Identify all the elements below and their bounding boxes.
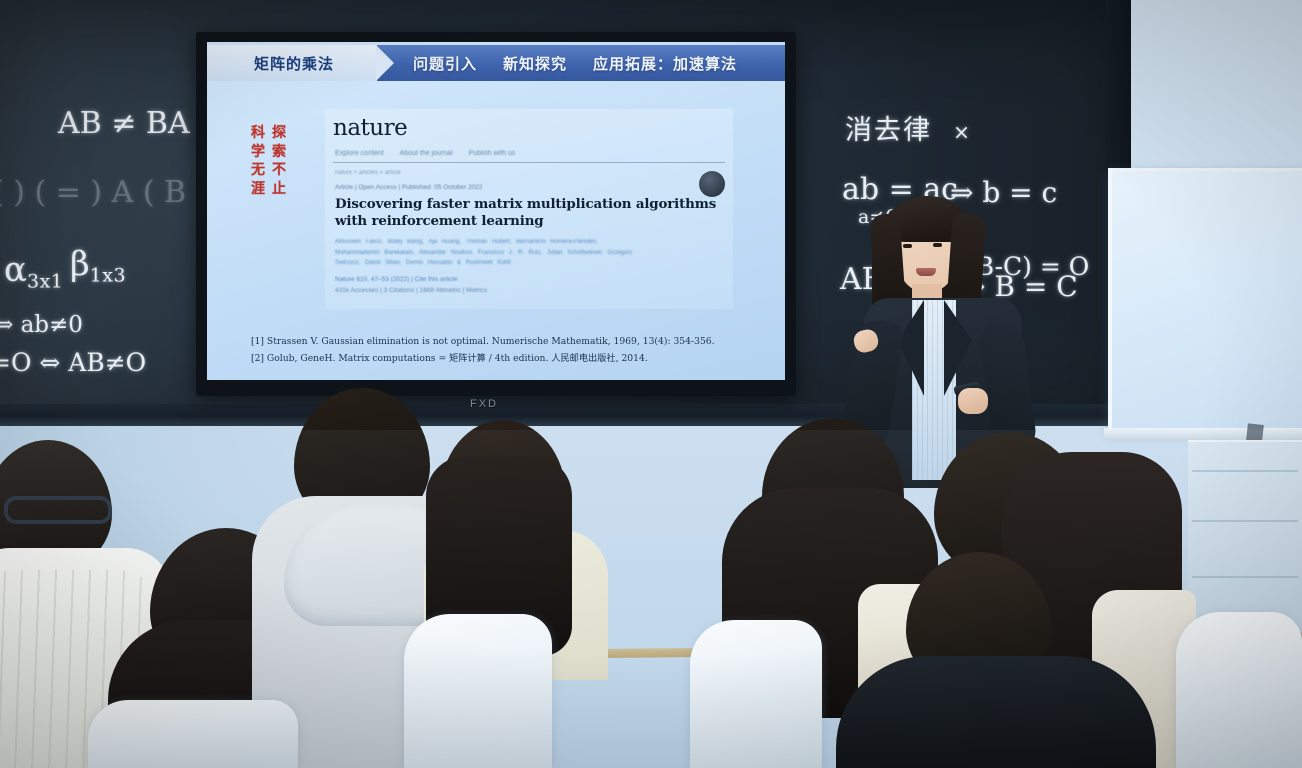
red-char-5: 索 bbox=[272, 144, 286, 161]
slide-nav-items: 问题引入 新知探究 应用拓展：加速算法 bbox=[413, 53, 737, 74]
slide-nav-item-0[interactable]: 问题引入 bbox=[413, 53, 477, 74]
lecturer-eye-left bbox=[903, 244, 912, 248]
chalk-ab-ne-zero: ⇒ ab≠0 bbox=[0, 312, 83, 338]
red-calligraphy: 科 学 无 涯 探 索 不 止 bbox=[251, 125, 286, 197]
reference-item-0: [1] Strassen V. Gaussian elimination is … bbox=[251, 333, 751, 350]
nature-citation: Nature 610, 47–53 (2022) | Cite this art… bbox=[335, 276, 733, 283]
nature-nav-link-1[interactable]: About the journal bbox=[400, 150, 453, 157]
right-wall-whiteboard bbox=[1108, 168, 1302, 433]
red-col-2: 探 索 不 止 bbox=[272, 125, 286, 197]
nature-nav-link-2[interactable]: Publish with us bbox=[469, 150, 516, 157]
red-char-1: 学 bbox=[251, 144, 265, 161]
nature-article-card: nature Explore content About the journal… bbox=[325, 109, 733, 309]
reference-item-1: [2] Golub, GeneH. Matrix computations = … bbox=[251, 350, 751, 367]
chair bbox=[1176, 612, 1302, 768]
red-char-3: 涯 bbox=[251, 181, 265, 198]
classroom-scene: AB ≠ BA ( ) ( = ) A ( B ) α3x1 β1x3 ⇒ ab… bbox=[0, 0, 1302, 768]
slide-navbar: 矩阵的乘法 问题引入 新知探究 应用拓展：加速算法 bbox=[207, 45, 785, 81]
chalk-alpha: α3x1 bbox=[4, 250, 63, 293]
student-jacket bbox=[836, 656, 1156, 768]
projector-screen: 矩阵的乘法 问题引入 新知探究 应用拓展：加速算法 科 学 无 涯 探 索 不 bbox=[207, 42, 785, 380]
chair bbox=[88, 700, 298, 768]
nature-nav: Explore content About the journal Publis… bbox=[335, 150, 733, 157]
nature-author-line-2: Swirszcz, David Silver, Demis Hassabis &… bbox=[335, 258, 723, 269]
chair bbox=[404, 614, 552, 768]
nature-breadcrumb: nature > articles > article bbox=[335, 170, 733, 176]
chalk-faded-line: ( ) ( = ) A ( B ) bbox=[0, 175, 207, 210]
red-char-7: 止 bbox=[272, 181, 286, 198]
nature-author-line-1: Mohammadamin Barekatain, Alexander Novik… bbox=[335, 248, 723, 259]
nature-divider bbox=[333, 162, 725, 163]
nature-logo: nature bbox=[333, 115, 733, 141]
slide-nav-item-2[interactable]: 应用拓展：加速算法 bbox=[593, 53, 737, 74]
student-right-front bbox=[852, 552, 1142, 768]
nature-authors: Alhussein Fawzi, Matej Balog, Aja Huang,… bbox=[335, 237, 723, 269]
cabinet-shelf-line-3 bbox=[1192, 576, 1298, 578]
chalk-beta: β1x3 bbox=[70, 244, 126, 287]
lecturer-mouth bbox=[916, 268, 936, 276]
red-char-0: 科 bbox=[251, 125, 265, 142]
chalk-heading-cancellation: 消去律 × bbox=[845, 108, 972, 147]
nature-nav-link-0[interactable]: Explore content bbox=[335, 150, 384, 157]
red-char-6: 不 bbox=[272, 162, 286, 179]
lecturer-eye-right bbox=[933, 243, 942, 247]
chalk-AB-ne-O: =O ⇔ AB≠O bbox=[0, 348, 146, 377]
red-char-4: 探 bbox=[272, 125, 286, 142]
nature-article-title: Discovering faster matrix multiplication… bbox=[335, 196, 723, 230]
nature-metrics: 431k Accesses | 3 Citations | 1668 Altme… bbox=[335, 287, 733, 294]
glasses-icon bbox=[4, 496, 112, 524]
red-char-2: 无 bbox=[251, 162, 265, 179]
right-cabinet bbox=[1188, 440, 1302, 632]
slide-nav-item-1[interactable]: 新知探究 bbox=[503, 53, 567, 74]
nature-author-line-0: Alhussein Fawzi, Matej Balog, Aja Huang,… bbox=[335, 237, 723, 248]
slide-references: [1] Strassen V. Gaussian elimination is … bbox=[251, 333, 751, 367]
chalk-ab-ne-ba: AB ≠ BA bbox=[58, 106, 190, 141]
cabinet-shelf-line-1 bbox=[1192, 470, 1298, 472]
nature-thumbnail-icon bbox=[699, 171, 725, 197]
chair bbox=[690, 620, 822, 768]
slide-tab-title[interactable]: 矩阵的乘法 bbox=[207, 45, 377, 81]
slide-body: 科 学 无 涯 探 索 不 止 nature Explore content A… bbox=[207, 81, 785, 380]
nature-article-kicker: Article | Open Access | Published: 05 Oc… bbox=[335, 184, 733, 191]
cabinet-shelf-line-2 bbox=[1192, 520, 1298, 522]
lecturer-hand-right bbox=[958, 388, 988, 414]
red-col-1: 科 学 无 涯 bbox=[251, 125, 265, 197]
